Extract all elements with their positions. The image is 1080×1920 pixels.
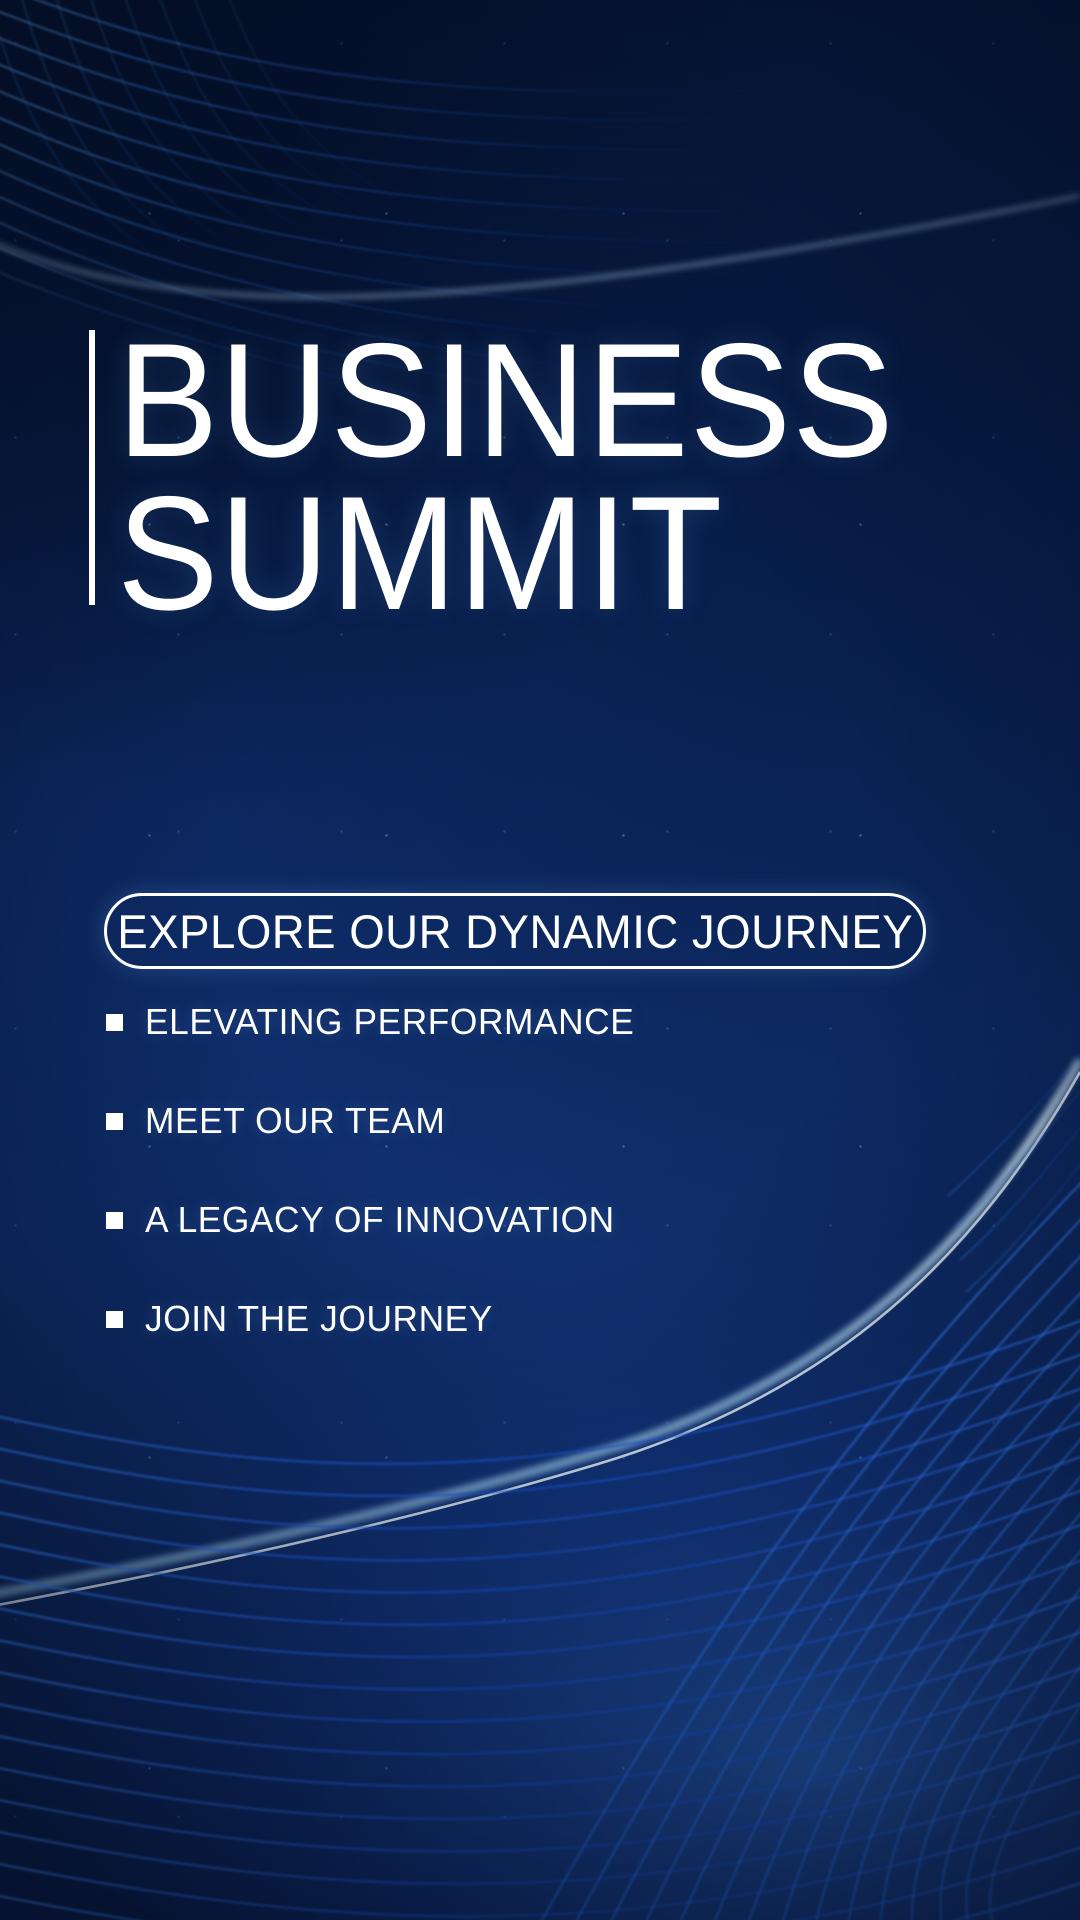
list-item-label: ELEVATING PERFORMANCE xyxy=(145,1001,634,1043)
poster-canvas: BUSINESS SUMMIT EXPLORE OUR DYNAMIC JOUR… xyxy=(0,0,1080,1920)
square-bullet-icon xyxy=(106,1113,123,1130)
list-item-label: MEET OUR TEAM xyxy=(145,1100,445,1142)
list-item-label: JOIN THE JOURNEY xyxy=(145,1298,493,1340)
list-item[interactable]: A LEGACY OF INNOVATION xyxy=(106,1198,906,1242)
square-bullet-icon xyxy=(106,1212,123,1229)
vertical-rule-icon xyxy=(89,330,95,605)
square-bullet-icon xyxy=(106,1014,123,1031)
list-item[interactable]: JOIN THE JOURNEY xyxy=(106,1297,906,1341)
title-line-1: BUSINESS xyxy=(117,330,895,473)
title-line-2: SUMMIT xyxy=(117,483,895,626)
bullet-list: ELEVATING PERFORMANCE MEET OUR TEAM A LE… xyxy=(106,1000,906,1341)
title-lines: BUSINESS SUMMIT xyxy=(117,330,944,625)
list-item-label: A LEGACY OF INNOVATION xyxy=(145,1199,615,1241)
poster-content: BUSINESS SUMMIT EXPLORE OUR DYNAMIC JOUR… xyxy=(0,0,1080,1920)
square-bullet-icon xyxy=(106,1311,123,1328)
explore-journey-button[interactable]: EXPLORE OUR DYNAMIC JOURNEY xyxy=(104,893,926,969)
explore-journey-button-label: EXPLORE OUR DYNAMIC JOURNEY xyxy=(117,904,913,959)
list-item[interactable]: ELEVATING PERFORMANCE xyxy=(106,1000,906,1044)
page-title: BUSINESS SUMMIT xyxy=(89,330,944,625)
list-item[interactable]: MEET OUR TEAM xyxy=(106,1099,906,1143)
